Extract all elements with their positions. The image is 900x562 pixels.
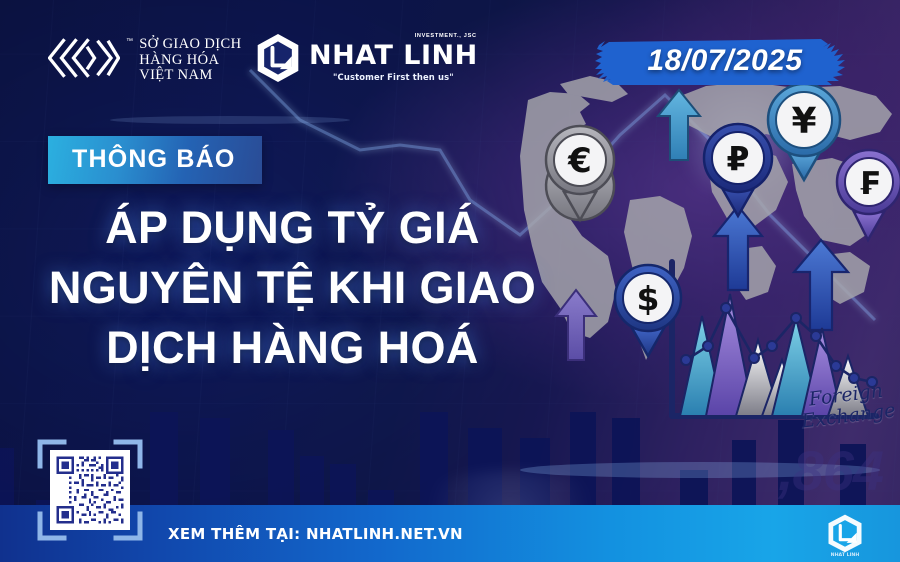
svg-text:₽: ₽ — [727, 139, 750, 178]
qr-code[interactable] — [50, 450, 130, 530]
svg-text:$: $ — [637, 279, 660, 318]
qr-code-block[interactable] — [36, 436, 144, 544]
svg-text:€: € — [567, 141, 592, 181]
nhatlinh-tagline: "Customer First then us" — [309, 72, 478, 82]
nhatlinh-logo: INVESTMENT., JSC NHAT LINH "Customer Fir… — [254, 32, 478, 84]
nhatlinh-hexagon-logo-icon — [254, 32, 302, 84]
svg-text:₣: ₣ — [858, 166, 880, 202]
date-value: 18/07/2025 — [595, 33, 855, 89]
date-badge: 18/07/2025 — [595, 33, 855, 89]
notice-badge: THÔNG BÁO — [48, 136, 262, 184]
headline-line-3: DỊCH HÀNG HOÁ — [0, 318, 585, 378]
poster-canvas: € $ ₽ ¥ — [0, 0, 900, 562]
nhatlinh-wordmark: INVESTMENT., JSC NHAT LINH "Customer Fir… — [309, 35, 478, 82]
mxv-trademark: ™ — [126, 38, 133, 45]
headline: ÁP DỤNG TỶ GIÁ NGUYÊN TỆ KHI GIAO DỊCH H… — [0, 198, 585, 378]
svg-text:NHAT LINH: NHAT LINH — [831, 552, 860, 557]
mxv-line-3: VIỆT NAM — [139, 68, 241, 84]
mxv-wordmark: SỞ GIAO DỊCH HÀNG HÓA VIỆT NAM — [139, 37, 241, 84]
mxv-line-2: HÀNG HÓA — [139, 53, 241, 69]
mxv-line-1: SỞ GIAO DỊCH — [139, 37, 241, 53]
headline-line-1: ÁP DỤNG TỶ GIÁ — [0, 198, 585, 258]
nhatlinh-name: NHAT LINH — [309, 41, 478, 71]
qr-modules — [54, 454, 126, 526]
footer-cta[interactable]: XEM THÊM TẠI: NHATLINH.NET.VN — [168, 525, 463, 543]
nhatlinh-superscript: INVESTMENT., JSC — [415, 33, 477, 39]
mxv-logo: ™ SỞ GIAO DỊCH HÀNG HÓA VIỆT NAM — [48, 36, 241, 84]
mxv-diamond-logo-icon — [48, 36, 120, 80]
footer-nhatlinh-logo-icon: NHAT LINH — [824, 513, 866, 557]
headline-line-2: NGUYÊN TỆ KHI GIAO — [0, 258, 585, 318]
header: ™ SỞ GIAO DỊCH HÀNG HÓA VIỆT NAM INVESTM… — [0, 0, 900, 112]
